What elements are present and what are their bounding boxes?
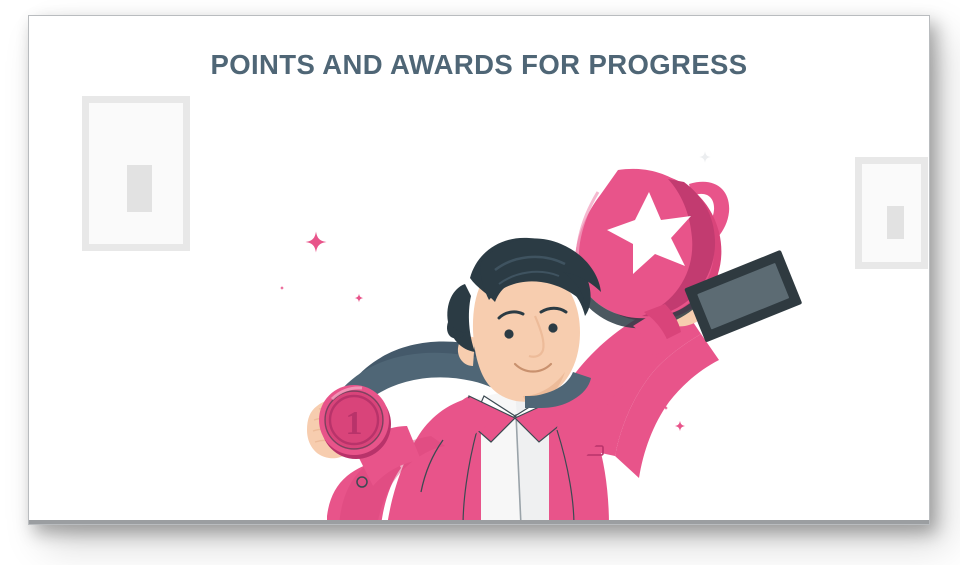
sparkle-icon (675, 421, 685, 431)
presentation-slide: POINTS AND AWARDS FOR PROGRESS (28, 15, 930, 525)
eye-left (504, 329, 513, 338)
sparkle-icon (306, 232, 327, 253)
sparkle-icon (355, 294, 364, 303)
sparkle-icon (699, 151, 711, 163)
medal-number: 1 (346, 405, 363, 442)
screenshot-canvas: POINTS AND AWARDS FOR PROGRESS (0, 0, 960, 565)
hero-illustration: 1 (29, 16, 930, 525)
floor-line (29, 520, 929, 524)
sparkle-icon (280, 286, 284, 290)
eye-right (548, 323, 557, 332)
